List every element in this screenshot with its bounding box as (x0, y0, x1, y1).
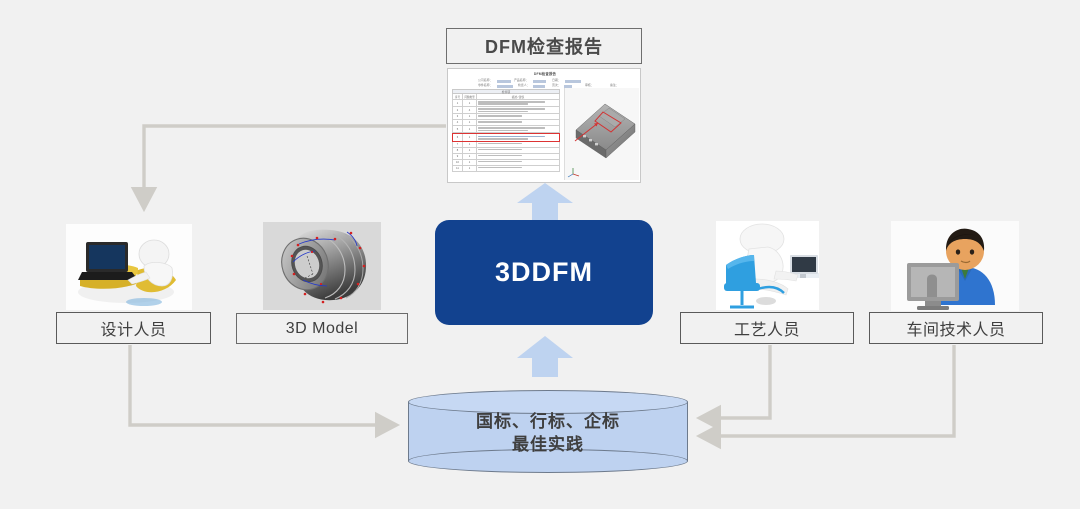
report-meta-value-1 (533, 80, 546, 83)
cell-type: 1 (463, 148, 477, 153)
cell-type: 1 (463, 160, 477, 165)
report-meta-label-0: 公司名称： (478, 78, 492, 82)
cell-no: 8 (453, 148, 463, 153)
cell-no: 11 (453, 166, 463, 171)
cell-type: 1 (463, 154, 477, 159)
table-row[interactable]: 111 (452, 166, 560, 172)
cell-no: 9 (453, 154, 463, 159)
knowledge-base-text: 国标、行标、企标 最佳实践 (408, 410, 688, 456)
report-thumbnail[interactable]: DFM检查报告 公司名称： 产品名称： 日期： 零件名称： 检查人： 页次： 审… (447, 68, 641, 183)
cell-type: 1 (463, 114, 477, 119)
flow-process-to-kb (700, 345, 770, 418)
cell-no: 序号 (453, 94, 463, 99)
table-row[interactable]: 61 (452, 133, 560, 141)
cell-type: 1 (463, 142, 477, 147)
cell-desc (477, 166, 559, 171)
report-meta-label-1: 产品名称： (514, 78, 528, 82)
cell-desc (477, 148, 559, 153)
diagram-canvas: DFM检查报告 DFM检查报告 公司名称： 产品名称： 日期： 零件名称： 检查… (0, 0, 1080, 509)
report-meta-label-8: 备注： (610, 83, 619, 87)
kb-line-1: 国标、行标、企标 (408, 410, 688, 433)
cell-no: 1 (453, 100, 463, 106)
report-title: DFM检查报告 (446, 28, 642, 64)
cell-desc (477, 154, 559, 159)
cell-no: 3 (453, 114, 463, 119)
cell-type: 1 (463, 120, 477, 125)
cell-desc (477, 114, 559, 119)
cell-type: 1 (463, 166, 477, 171)
report-meta-value-3 (565, 80, 581, 83)
report-doc-title: DFM检查报告 (448, 71, 641, 76)
report-meta-value-0 (497, 80, 511, 83)
label-designer: 设计人员 (100, 316, 166, 340)
cell-type: 1 (463, 126, 477, 132)
knowledge-base-cylinder[interactable]: 国标、行标、企标 最佳实践 (408, 390, 688, 473)
report-findings-table[interactable]: 检查项 序号 问题类型 描述 / 建议 11243141516171819110… (452, 89, 560, 172)
cell-no: 5 (453, 126, 463, 132)
table-row[interactable]: 24 (452, 107, 560, 114)
cell-type: 1 (463, 100, 477, 106)
cell-no: 10 (453, 160, 463, 165)
report-meta-label-3: 日期： (552, 78, 561, 82)
kb-line-2: 最佳实践 (408, 433, 688, 456)
cad-cylindrical-part-photo (263, 222, 381, 310)
cell-no: 7 (453, 142, 463, 147)
core-3ddfm-box[interactable]: 3DDFM (435, 220, 653, 325)
cell-no: 6 (453, 134, 463, 140)
flow-report-to-designer (144, 126, 446, 208)
cell-desc (477, 142, 559, 147)
workshop-technician-avatar-photo (891, 221, 1019, 311)
label-process-engineer: 工艺人员 (734, 316, 800, 340)
cell-desc (477, 120, 559, 125)
cell-desc: 描述 / 建议 (477, 94, 559, 99)
label-box-process-engineer[interactable]: 工艺人员 (680, 312, 854, 344)
label-box-workshop-technician[interactable]: 车间技术人员 (869, 312, 1043, 344)
core-3ddfm-label: 3DDFM (495, 257, 593, 288)
report-meta-value-5 (533, 85, 545, 88)
cell-type: 1 (463, 134, 477, 140)
block-arrow-kb-to-core (515, 333, 575, 378)
process-engineer-at-desk-photo (716, 221, 819, 310)
report-meta-value-2 (497, 85, 513, 88)
label-workshop-technician: 车间技术人员 (906, 316, 1005, 340)
3d-part-render-icon (565, 88, 639, 180)
cell-desc (477, 100, 559, 106)
table-row[interactable]: 11 (452, 100, 560, 107)
label-box-designer[interactable]: 设计人员 (56, 312, 211, 344)
report-table-body: 112431415161718191101111 (452, 100, 560, 172)
flow-designer-to-kb (130, 345, 396, 425)
cell-no: 2 (453, 107, 463, 113)
designer-at-desk-photo (66, 224, 192, 310)
label-3d-model: 3D Model (286, 320, 358, 338)
report-meta-label-6: 审核： (585, 83, 594, 87)
cell-no: 4 (453, 120, 463, 125)
cell-desc (477, 107, 559, 113)
label-box-3d-model[interactable]: 3D Model (236, 313, 408, 344)
cell-desc (477, 126, 559, 132)
report-meta-label-5: 检查人： (518, 83, 530, 87)
report-meta-label-7: 页次： (552, 83, 561, 87)
cell-desc (477, 160, 559, 165)
cell-type: 4 (463, 107, 477, 113)
block-arrow-core-to-report (515, 181, 575, 223)
dfm-report-card[interactable]: DFM检查报告 DFM检查报告 公司名称： 产品名称： 日期： 零件名称： 检查… (446, 28, 642, 183)
cell-type: 问题类型 (463, 94, 477, 99)
report-meta-label-2: 零件名称： (478, 83, 492, 87)
table-row[interactable]: 51 (452, 126, 560, 133)
flow-workshop-to-kb (700, 345, 954, 436)
cell-desc (477, 134, 559, 140)
report-3d-preview[interactable] (564, 88, 639, 180)
